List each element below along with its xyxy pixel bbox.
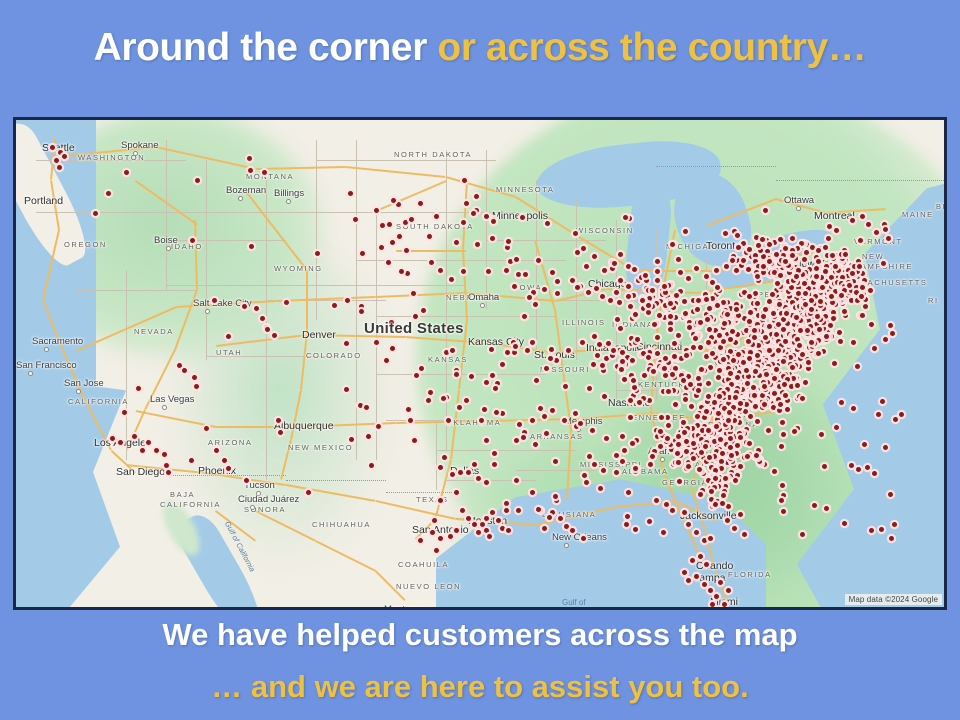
customer-location-dot (581, 536, 586, 541)
customer-location-dot (686, 578, 691, 583)
footer-line-2: … and we are here to assist you too. (0, 669, 960, 705)
customer-location-dot (384, 358, 389, 363)
customer-location-dot (479, 418, 484, 423)
customer-location-dot (595, 353, 600, 358)
customer-location-dot (855, 364, 860, 369)
customer-location-dot (438, 536, 443, 541)
customer-location-dot (604, 436, 609, 441)
customer-location-dot (755, 301, 760, 306)
customer-location-dot (434, 214, 439, 219)
customer-location-dot (272, 333, 277, 338)
customer-location-dot (731, 405, 736, 410)
customer-location-dot (432, 518, 437, 523)
customer-location-dot (558, 516, 563, 521)
customer-location-dot (369, 463, 374, 468)
customer-location-dot (756, 343, 761, 348)
city-marker-ring (480, 303, 485, 308)
customer-location-dot (674, 293, 679, 298)
customer-location-dot (736, 352, 741, 357)
customer-location-dot (582, 473, 587, 478)
customer-location-dot (679, 356, 684, 361)
customer-location-dot (563, 384, 568, 389)
customer-location-dot (781, 359, 786, 364)
customer-location-dot (454, 240, 459, 245)
border-line (266, 370, 267, 480)
customer-location-dot (805, 328, 810, 333)
customer-location-dot (722, 321, 727, 326)
customer-location-dot (721, 339, 726, 344)
customer-location-dot (682, 510, 687, 515)
customer-location-dot (767, 259, 772, 264)
customer-location-dot (710, 602, 715, 607)
customer-location-dot (549, 347, 554, 352)
border-line (166, 140, 167, 290)
customer-location-dot (704, 409, 709, 414)
customer-location-dot (506, 528, 511, 533)
customer-location-dot (823, 314, 828, 319)
customer-location-dot (702, 538, 707, 543)
customer-location-dot (505, 350, 510, 355)
customer-location-dot (713, 468, 718, 473)
customer-location-dot (673, 366, 678, 371)
customer-location-dot (500, 362, 505, 367)
customer-location-dot (668, 321, 673, 326)
customer-location-dot (788, 355, 793, 360)
customer-location-dot (454, 490, 459, 495)
customer-location-dot (712, 400, 717, 405)
customer-location-dot (747, 247, 752, 252)
customer-location-dot (124, 170, 129, 175)
customer-location-dot (614, 290, 619, 295)
customer-location-dot (663, 290, 668, 295)
customer-location-dot (697, 382, 702, 387)
border-line (206, 356, 336, 357)
customer-location-dot (840, 275, 845, 280)
customer-location-dot (834, 275, 839, 280)
customer-location-dot (484, 380, 489, 385)
customer-location-dot (850, 271, 855, 276)
customer-location-dot (592, 254, 597, 259)
customer-location-dot (662, 284, 667, 289)
customer-location-dot (702, 582, 707, 587)
customer-location-dot (594, 286, 599, 291)
customer-location-dot (476, 476, 481, 481)
customer-location-dot (708, 365, 713, 370)
customer-location-dot (725, 518, 730, 523)
customer-location-dot (743, 409, 748, 414)
customer-location-dot (693, 336, 698, 341)
customer-location-dot (414, 373, 419, 378)
map-canvas[interactable]: WASHINGTONOREGONMONTANAIDAHOWYOMINGNEVAD… (16, 120, 944, 607)
customer-location-dot (883, 227, 888, 232)
customer-location-dot (850, 218, 855, 223)
customer-location-dot (690, 426, 695, 431)
customer-location-dot (490, 236, 495, 241)
customer-location-dot (359, 304, 364, 309)
customer-location-dot (504, 501, 509, 506)
customer-location-dot (584, 264, 589, 269)
customer-location-dot (821, 349, 826, 354)
customer-location-dot (545, 221, 550, 226)
customer-location-dot (93, 211, 98, 216)
customer-location-dot (284, 300, 289, 305)
customer-location-dot (855, 269, 860, 274)
customer-location-dot (632, 385, 637, 390)
customer-location-dot (722, 406, 727, 411)
city-marker-ring (44, 347, 49, 352)
map-attribution: Map data ©2024 Google (845, 594, 942, 605)
customer-location-dot (486, 269, 491, 274)
border-line (776, 180, 944, 182)
customer-location-dot (676, 442, 681, 447)
customer-location-dot (707, 306, 712, 311)
customer-location-dot (647, 398, 652, 403)
customer-location-dot (592, 334, 597, 339)
headline: Around the corner or across the country… (0, 26, 960, 70)
customer-location-dot (866, 222, 871, 227)
customer-location-dot (622, 377, 627, 382)
customer-location-dot (349, 437, 354, 442)
customer-location-dot (647, 350, 652, 355)
customer-location-dot (374, 340, 379, 345)
customer-location-dot (598, 486, 603, 491)
customer-location-dot (775, 281, 780, 286)
customer-location-dot (709, 497, 714, 502)
customer-location-dot (744, 402, 749, 407)
customer-location-dot (796, 268, 801, 273)
customer-location-dot (464, 398, 469, 403)
city-marker-ring (162, 405, 167, 410)
customer-location-dot (713, 476, 718, 481)
customer-location-dot (714, 594, 719, 599)
customer-location-dot (879, 527, 884, 532)
customer-location-dot (444, 350, 449, 355)
customer-location-dot (794, 274, 799, 279)
customer-location-dot (714, 268, 719, 273)
customer-location-dot (675, 451, 680, 456)
customer-location-dot (632, 267, 637, 272)
customer-location-dot (458, 470, 463, 475)
customer-location-dot (686, 522, 691, 527)
customer-location-dot (755, 419, 760, 424)
customer-location-dot (744, 368, 749, 373)
customer-location-dot (628, 398, 633, 403)
customer-location-dot (797, 343, 802, 348)
customer-location-dot (366, 434, 371, 439)
customer-location-dot (590, 428, 595, 433)
customer-location-dot (734, 451, 739, 456)
customer-location-dot (741, 241, 746, 246)
customer-location-dot (809, 307, 814, 312)
customer-location-dot (487, 534, 492, 539)
customer-location-dot (655, 278, 660, 283)
customer-location-dot (622, 448, 627, 453)
customer-location-dot (688, 382, 693, 387)
customer-location-dot (278, 430, 283, 435)
customer-location-dot (724, 264, 729, 269)
city-marker-ring (660, 457, 665, 462)
customer-location-dot (177, 363, 182, 368)
customer-location-dot (847, 283, 852, 288)
customer-location-dot (608, 298, 613, 303)
customer-location-dot (657, 313, 662, 318)
border-line (36, 212, 336, 213)
customer-location-dot (721, 357, 726, 362)
customer-location-dot (132, 434, 137, 439)
customer-location-dot (803, 291, 808, 296)
customer-location-dot (189, 458, 194, 463)
customer-location-dot (570, 278, 575, 283)
border-line (536, 180, 537, 360)
customer-location-dot (523, 272, 528, 277)
customer-location-dot (728, 337, 733, 342)
customer-location-dot (672, 341, 677, 346)
highway-segment (306, 270, 308, 332)
border-line (486, 150, 487, 310)
customer-location-dot (573, 411, 578, 416)
customer-location-dot (830, 253, 835, 258)
customer-location-dot (641, 306, 646, 311)
customer-location-dot (534, 378, 539, 383)
headline-gold-part: or across the country… (437, 26, 866, 69)
customer-location-dot (390, 240, 395, 245)
border-line (356, 140, 357, 460)
customer-location-dot (732, 526, 737, 531)
customer-location-dot (783, 339, 788, 344)
customer-location-dot (637, 400, 642, 405)
customer-location-dot (728, 445, 733, 450)
customer-location-dot (729, 453, 734, 458)
customer-location-dot (684, 449, 689, 454)
customer-location-dot (713, 502, 718, 507)
customer-location-dot (450, 472, 455, 477)
customer-location-dot (633, 466, 638, 471)
customer-location-dot (806, 360, 811, 365)
customer-location-dot (441, 396, 446, 401)
customer-location-dot (615, 317, 620, 322)
border-line (166, 240, 286, 241)
customer-location-dot (460, 508, 465, 513)
customer-location-dot (214, 448, 219, 453)
customer-location-dot (146, 440, 151, 445)
customer-location-dot (646, 310, 651, 315)
customer-location-dot (753, 404, 758, 409)
customer-location-dot (767, 242, 772, 247)
customer-location-dot (265, 327, 270, 332)
customer-location-dot (626, 284, 631, 289)
customer-location-dot (863, 304, 868, 309)
customer-location-dot (542, 414, 547, 419)
customer-location-dot (635, 337, 640, 342)
customer-location-dot (438, 498, 443, 503)
border-line (386, 492, 456, 494)
customer-location-dot (686, 276, 691, 281)
customer-location-dot (380, 223, 385, 228)
customer-location-dot (735, 375, 740, 380)
customer-location-dot (618, 278, 623, 283)
customer-location-dot (469, 374, 474, 379)
customer-location-dot (800, 532, 805, 537)
customer-location-dot (631, 293, 636, 298)
customer-location-dot (601, 368, 606, 373)
customer-location-dot (604, 356, 609, 361)
customer-location-dot (262, 170, 267, 175)
customer-location-dot (454, 528, 459, 533)
customer-location-dot (182, 368, 187, 373)
customer-location-dot (781, 493, 786, 498)
customer-location-dot (248, 168, 253, 173)
customer-location-dot (472, 522, 477, 527)
customer-location-dot (893, 417, 898, 422)
customer-location-dot (564, 524, 569, 529)
customer-location-dot (626, 264, 631, 269)
customer-location-dot (600, 363, 605, 368)
customer-location-dot (54, 158, 59, 163)
customer-location-dot (704, 297, 709, 302)
city-marker-ring (256, 491, 261, 496)
customer-location-dot (62, 154, 67, 159)
customer-location-dot (757, 373, 762, 378)
customer-location-dot (726, 588, 731, 593)
customer-location-dot (770, 352, 775, 357)
slide-root: Around the corner or across the country… (0, 0, 960, 720)
city-marker-ring (133, 151, 138, 156)
customer-location-dot (695, 414, 700, 419)
customer-location-dot (712, 454, 717, 459)
customer-location-dot (254, 306, 259, 311)
customer-location-dot (706, 478, 711, 483)
customer-location-dot (814, 274, 819, 279)
customer-location-dot (676, 257, 681, 262)
customer-location-dot (678, 270, 683, 275)
customer-location-dot (620, 359, 625, 364)
customer-location-dot (705, 317, 710, 322)
customer-location-dot (691, 345, 696, 350)
customer-location-dot (520, 215, 525, 220)
customer-location-dot (755, 274, 760, 279)
customer-location-dot (691, 441, 696, 446)
customer-location-dot (476, 530, 481, 535)
border-line (576, 200, 577, 360)
customer-location-dot (796, 285, 801, 290)
customer-location-dot (715, 303, 720, 308)
customer-location-dot (154, 448, 159, 453)
customer-location-dot (800, 272, 805, 277)
customer-location-dot (665, 436, 670, 441)
city-marker-ring (564, 543, 569, 548)
customer-location-dot (810, 245, 815, 250)
customer-location-dot (430, 530, 435, 535)
customer-location-dot (222, 458, 227, 463)
customer-location-dot (825, 253, 830, 258)
customer-location-dot (522, 430, 527, 435)
customer-location-dot (683, 229, 688, 234)
customer-location-dot (697, 467, 702, 472)
customer-location-dot (419, 366, 424, 371)
customer-location-dot (790, 236, 795, 241)
customer-location-dot (710, 296, 715, 301)
customer-location-dot (364, 405, 369, 410)
customer-location-dot (512, 284, 517, 289)
customer-location-dot (778, 237, 783, 242)
customer-location-dot (881, 261, 886, 266)
customer-location-dot (718, 580, 723, 585)
customer-location-dot (780, 483, 785, 488)
customer-location-dot (601, 468, 606, 473)
customer-location-dot (695, 307, 700, 312)
customer-location-dot (642, 373, 647, 378)
border-line (516, 470, 596, 471)
customer-location-dot (418, 538, 423, 543)
customer-location-dot (704, 274, 709, 279)
customer-location-dot (110, 436, 115, 441)
customer-location-dot (834, 425, 839, 430)
customer-location-dot (586, 290, 591, 295)
customer-location-dot (779, 444, 784, 449)
customer-location-dot (744, 328, 749, 333)
customer-location-dot (738, 512, 743, 517)
customer-location-dot (626, 490, 631, 495)
customer-location-dot (533, 442, 538, 447)
customer-location-dot (682, 570, 687, 575)
customer-location-dot (578, 421, 583, 426)
customer-location-dot (753, 369, 758, 374)
city-marker-ring (76, 389, 81, 394)
customer-location-dot (880, 399, 885, 404)
map-container[interactable]: WASHINGTONOREGONMONTANAIDAHOWYOMINGNEVAD… (13, 117, 947, 610)
customer-location-dot (514, 438, 519, 443)
customer-location-dot (516, 272, 521, 277)
customer-location-dot (260, 316, 265, 321)
customer-location-dot (618, 252, 623, 257)
customer-location-dot (740, 387, 745, 392)
customer-location-dot (386, 260, 391, 265)
border-line (436, 420, 437, 490)
customer-location-dot (828, 323, 833, 328)
customer-location-dot (681, 378, 686, 383)
customer-location-dot (438, 465, 443, 470)
customer-location-dot (628, 304, 633, 309)
customer-location-dot (888, 323, 893, 328)
customer-location-dot (506, 239, 511, 244)
customer-location-dot (800, 352, 805, 357)
customer-location-dot (735, 258, 740, 263)
customer-location-dot (405, 271, 410, 276)
customer-location-dot (733, 478, 738, 483)
customer-location-dot (720, 451, 725, 456)
border-line (656, 166, 776, 168)
customer-location-dot (752, 335, 757, 340)
customer-location-dot (709, 335, 714, 340)
customer-location-dot (655, 259, 660, 264)
customer-location-dot (602, 268, 607, 273)
customer-location-dot (761, 314, 766, 319)
customer-location-dot (689, 404, 694, 409)
customer-location-dot (842, 521, 847, 526)
customer-location-dot (204, 426, 209, 431)
customer-location-dot (624, 522, 629, 527)
customer-location-dot (865, 465, 870, 470)
customer-location-dot (753, 291, 758, 296)
customer-location-dot (344, 387, 349, 392)
customer-location-dot (376, 424, 381, 429)
customer-location-dot (592, 462, 597, 467)
customer-location-dot (448, 534, 453, 539)
city-marker-ring (166, 246, 171, 251)
customer-location-dot (732, 418, 737, 423)
customer-location-dot (575, 250, 580, 255)
customer-location-dot (664, 502, 669, 507)
